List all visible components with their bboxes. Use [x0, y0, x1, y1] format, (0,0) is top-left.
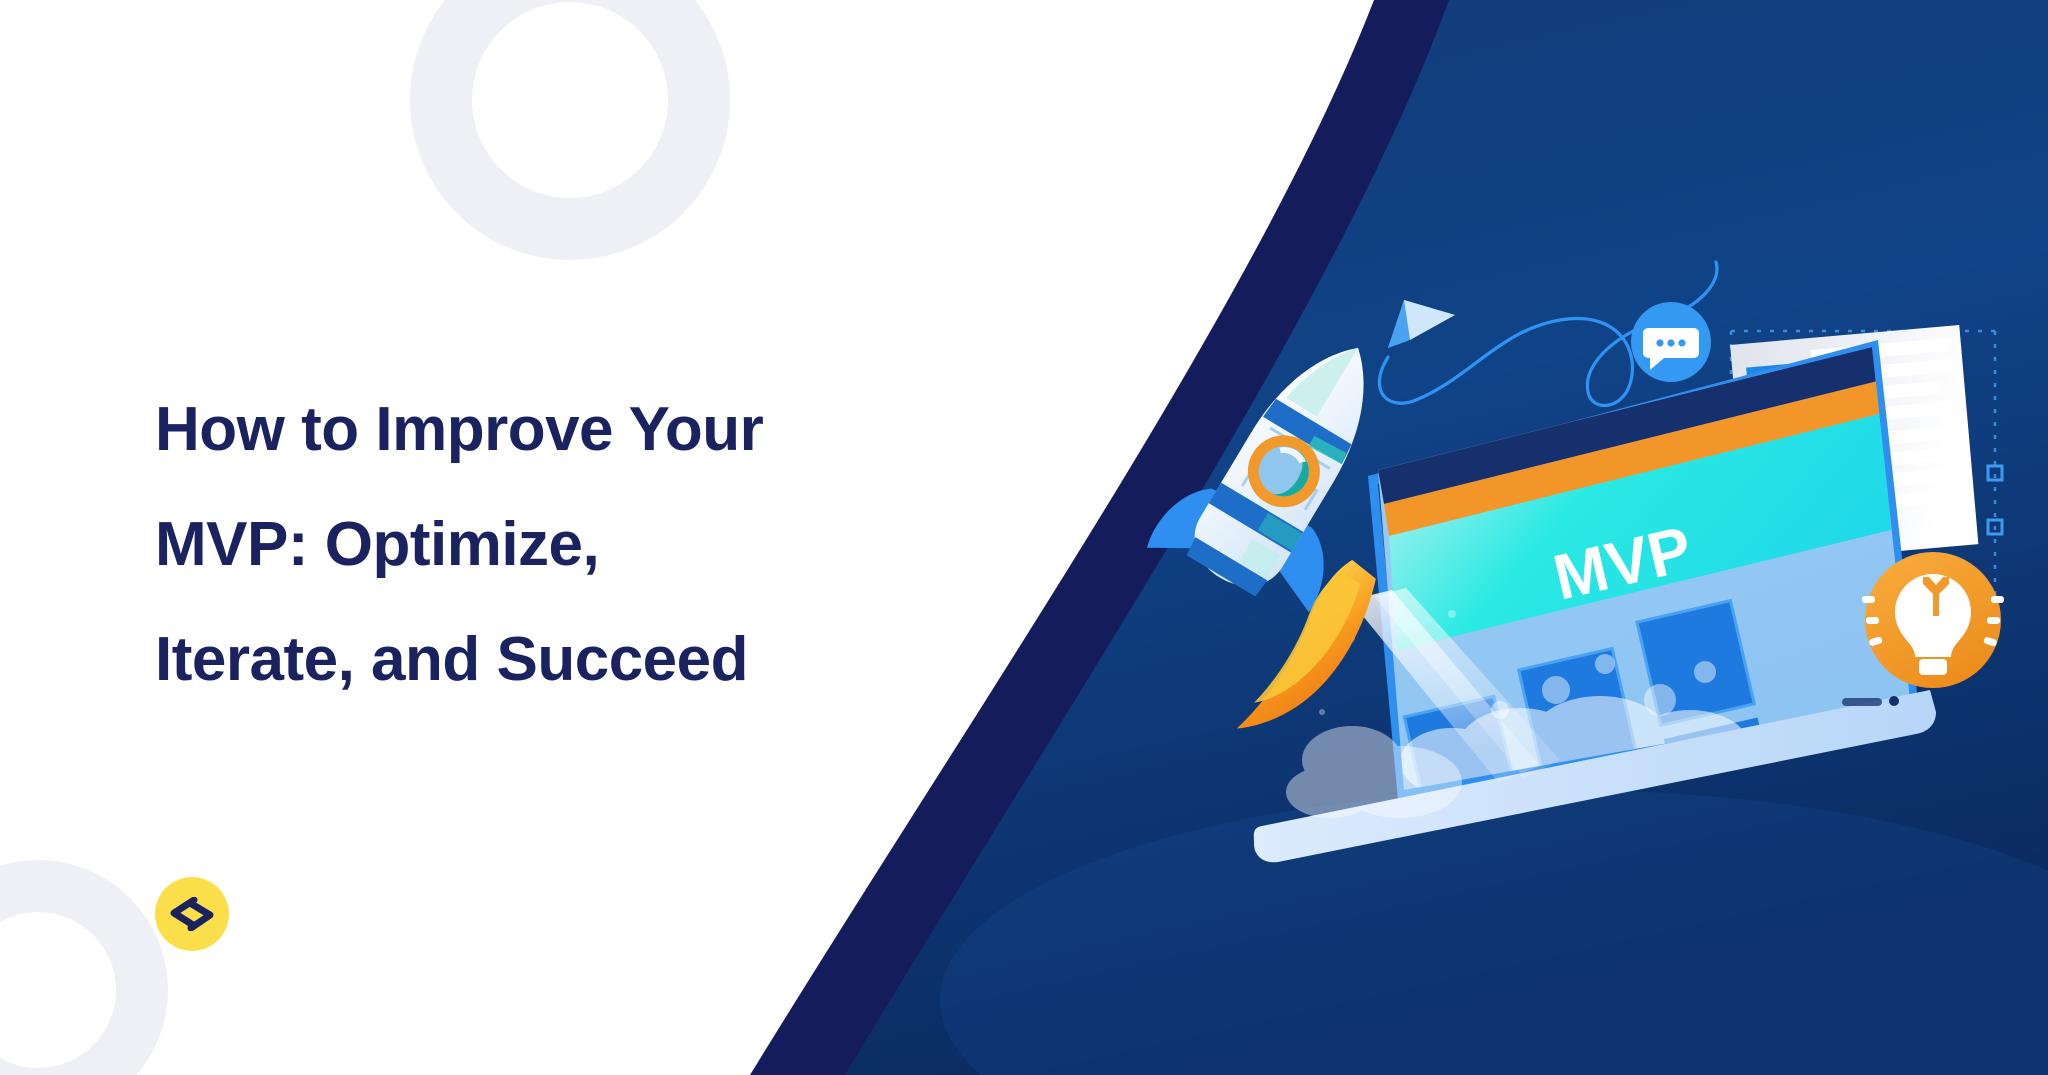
headline-line-3: Iterate, and Succeed	[155, 602, 965, 717]
chat-bubble-icon	[1631, 302, 1711, 382]
headline-line-2: MVP: Optimize,	[155, 487, 965, 602]
blog-hero-banner: MVP	[0, 0, 2048, 1075]
page-title: How to Improve Your MVP: Optimize, Itera…	[155, 372, 965, 717]
headline-line-1: How to Improve Your	[155, 372, 965, 487]
logo-chevron-icon	[170, 897, 214, 931]
brand-logo[interactable]	[155, 877, 229, 951]
